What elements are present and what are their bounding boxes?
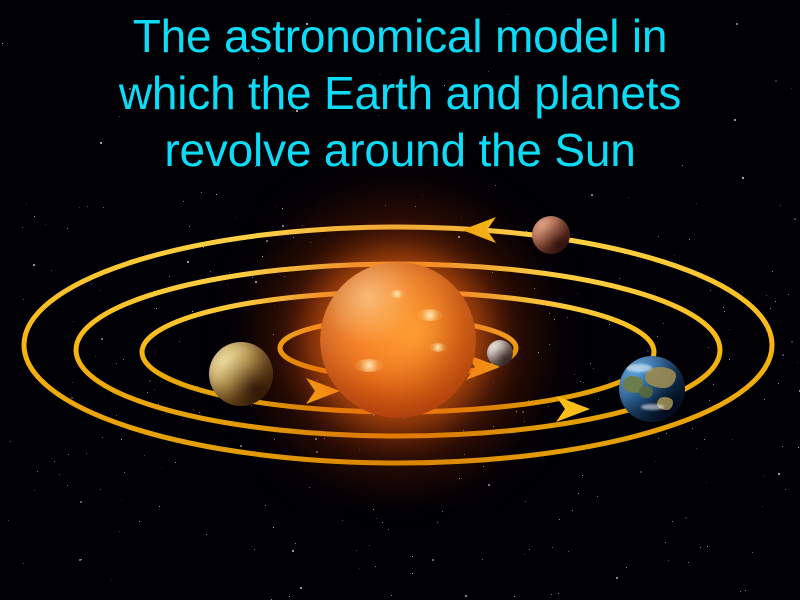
planet-earth [619, 356, 685, 422]
planet-mercury [487, 340, 513, 366]
sun-body [320, 262, 476, 418]
definition-text: The astronomical model in which the Eart… [0, 8, 800, 179]
planet-mars [532, 216, 570, 254]
planet-venus [209, 342, 273, 406]
definition-card: The astronomical model in which the Eart… [0, 0, 800, 600]
